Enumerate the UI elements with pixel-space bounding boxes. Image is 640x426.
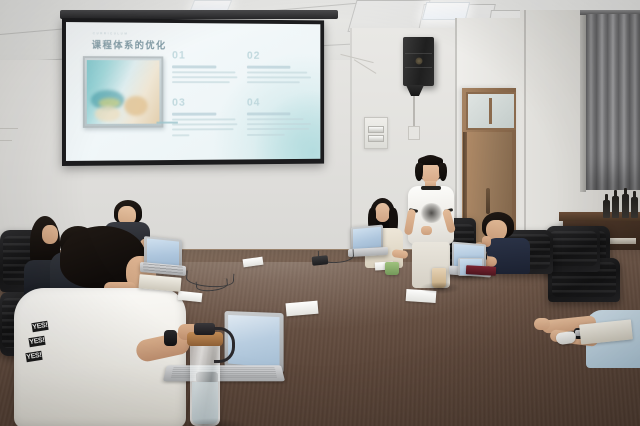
- slide-block-02: 02: [247, 51, 313, 84]
- speaker-seam: [405, 67, 432, 68]
- photo-detail: [95, 106, 121, 122]
- window-curtain[interactable]: [586, 14, 640, 190]
- laptop-keyboard[interactable]: [143, 264, 184, 274]
- slide-block-heading-bar: [172, 113, 216, 116]
- paper-sheet[interactable]: [285, 301, 318, 317]
- slide-block-01: 01: [172, 51, 239, 84]
- laptop-base-foreground[interactable]: [163, 365, 285, 381]
- vent-slot: [368, 135, 384, 142]
- photo-detail: [124, 96, 147, 116]
- office-chair[interactable]: [546, 226, 600, 272]
- vent-slot: [368, 126, 384, 133]
- chair-backrest-ribs: [549, 231, 597, 267]
- paper-sheet[interactable]: [406, 289, 437, 303]
- speaker-wire: [413, 96, 415, 128]
- presentation-slide: CURRICULUM 课程体系的优化 01: [66, 22, 320, 161]
- speaker-seam: [405, 53, 432, 54]
- presenter-hands: [421, 226, 432, 235]
- bottle: [612, 196, 619, 218]
- tan-cup[interactable]: [432, 268, 446, 288]
- wall-vent-panel: [364, 117, 388, 149]
- slide-block-textline: [247, 123, 311, 125]
- slide-block-number: 04: [247, 98, 313, 109]
- slide-block-textline: [247, 76, 311, 78]
- slide-block-textline: [172, 129, 234, 131]
- door-transom-glass: [466, 92, 516, 130]
- slide-photo-frame: [83, 56, 163, 128]
- slide-block-textline: [247, 71, 307, 73]
- bottle-cap-black[interactable]: [194, 323, 215, 335]
- presenter-hair-side: [439, 163, 447, 181]
- bottle: [631, 197, 638, 218]
- participant-face: [375, 203, 390, 222]
- door-handle[interactable]: [486, 188, 490, 214]
- wall-seam: [524, 10, 526, 232]
- notebook-red[interactable]: [466, 265, 496, 276]
- slide-title: 课程体系的优化: [92, 37, 167, 51]
- slide-kicker: CURRICULUM: [93, 31, 129, 35]
- slide-photo-image: [87, 60, 160, 124]
- slide-block-number: 02: [247, 51, 313, 62]
- shirt-chest-graphic: [420, 203, 443, 223]
- slide-block-textline: [247, 82, 300, 84]
- wall-cable: [0, 140, 12, 141]
- conference-room-photo: CURRICULUM 课程体系的优化 01: [0, 0, 640, 426]
- speaker-cone-icon: [415, 57, 422, 64]
- slide-block-heading-bar: [172, 65, 216, 68]
- slide-block-heading-bar: [247, 112, 290, 115]
- slide-block-textline: [247, 128, 309, 130]
- power-adapter: [312, 255, 329, 266]
- laptop-screen: [353, 226, 381, 249]
- slide-block-04: 04: [247, 98, 313, 136]
- participant-hand: [534, 318, 550, 330]
- presenter-hair-side: [415, 163, 423, 181]
- slide-block-03: 03: [172, 98, 239, 136]
- transom-mullion: [489, 98, 492, 124]
- slide-block-textline: [172, 71, 235, 73]
- wall-speaker: [403, 37, 434, 86]
- bottle: [622, 194, 629, 218]
- slide-block-textline: [172, 134, 189, 136]
- slide-block-textline: [247, 118, 304, 120]
- shirt-collar-trim: [421, 186, 441, 190]
- slide-block-textline: [172, 76, 237, 78]
- slide-block-number: 03: [172, 98, 239, 109]
- slide-block-textline: [172, 123, 237, 125]
- bottle: [603, 200, 610, 218]
- slide-block-textline: [247, 133, 285, 135]
- laptop-screen: [228, 315, 279, 369]
- laptop-keyboard[interactable]: [171, 367, 277, 378]
- laptop-screen: [147, 238, 180, 266]
- wall-cable: [0, 128, 18, 129]
- wristband: [164, 330, 177, 346]
- slide-block-heading-bar: [247, 66, 290, 69]
- projection-screen: CURRICULUM 课程体系的优化 01: [62, 18, 324, 166]
- slide-block-textline: [172, 81, 230, 83]
- green-cup[interactable]: [385, 262, 399, 275]
- bottle-water-level: [192, 382, 218, 424]
- slide-block-textline: [172, 118, 235, 120]
- slide-block-number: 01: [172, 51, 239, 62]
- wall-outlet-plate: [408, 126, 420, 140]
